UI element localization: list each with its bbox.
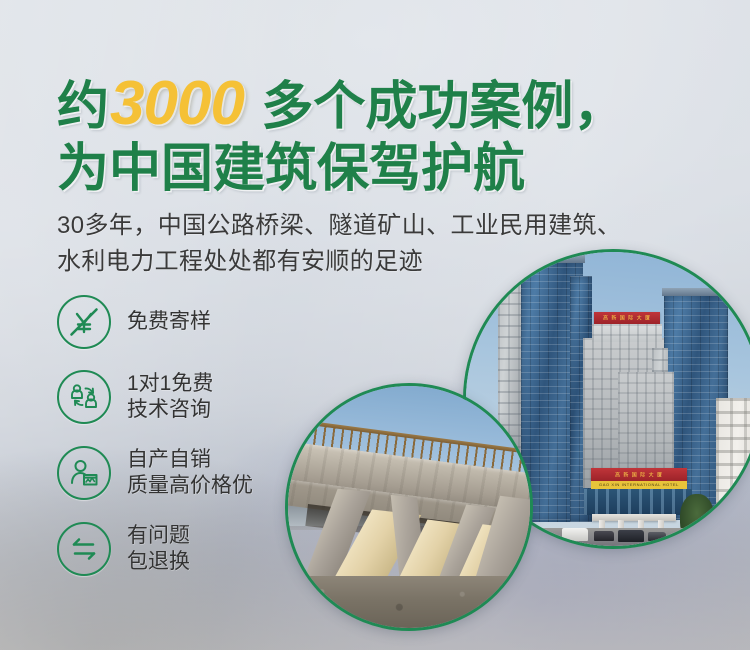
person-chart-icon: [57, 446, 111, 500]
headline-prefix: 约: [57, 78, 109, 136]
tower-roof-cap-left: [519, 254, 585, 263]
feature-label: 免费寄样: [127, 309, 211, 335]
center-parapet: [592, 324, 662, 342]
feature-item-quality-price: 自产自销 质量高价格优: [57, 446, 327, 500]
parked-suv: [618, 530, 644, 542]
headline: 约3000 多个成功案例， 为中国建筑保驾护航: [57, 76, 717, 197]
parked-car: [594, 531, 614, 541]
lobby-glass-band: [584, 489, 692, 515]
headline-number: 3000: [109, 69, 247, 138]
white-office-building: [716, 398, 750, 520]
feature-label-line-2: 包退换: [127, 549, 190, 575]
parked-car: [648, 532, 666, 541]
entrance-sign-band: 高 新 国 际 大 厦: [591, 468, 687, 481]
two-person-exchange-icon: [57, 370, 111, 424]
feature-label: 有问题 包退换: [127, 523, 190, 575]
rooftop-sign-text: 高 新 国 际 大 厦: [594, 315, 660, 322]
feature-list: 免费寄样 1对1免费 技术咨询: [57, 295, 327, 598]
rooftop-sign-band: 高 新 国 际 大 厦: [594, 312, 660, 324]
feature-label-line-1: 自产自销: [127, 448, 211, 471]
feature-item-return-exchange: 有问题 包退换: [57, 522, 327, 576]
no-fee-yen-icon: [57, 295, 111, 349]
tower-roof-cap-right: [662, 288, 730, 296]
headline-line-1: 约3000 多个成功案例，: [57, 76, 717, 135]
feature-item-consultation: 1对1免费 技术咨询: [57, 370, 327, 424]
feature-label: 自产自销 质量高价格优: [127, 447, 253, 499]
entrance-sign-text: 高 新 国 际 大 厦: [591, 471, 687, 478]
headline-suffix: 多个成功案例，: [247, 78, 625, 136]
feature-label-line-1: 有问题: [127, 524, 190, 547]
exchange-arrows-icon: [57, 522, 111, 576]
headline-line-2: 为中国建筑保驾护航: [57, 141, 717, 197]
feature-label-line-2: 质量高价格优: [127, 473, 253, 499]
feature-label-line-2: 技术咨询: [127, 397, 213, 423]
entrance-sign-sub-band: GAO XIN INTERNATIONAL HOTEL: [591, 481, 687, 489]
parked-car: [534, 532, 550, 541]
feature-label: 1对1免费 技术咨询: [127, 371, 213, 423]
feature-item-free-sample: 免费寄样: [57, 295, 327, 349]
feature-label-line-1: 免费寄样: [127, 310, 211, 333]
parked-van: [562, 528, 588, 541]
entrance-sign-sub-text: GAO XIN INTERNATIONAL HOTEL: [591, 481, 687, 489]
subtitle-line-1: 30多年，中国公路桥梁、隧道矿山、工业民用建筑、: [57, 208, 727, 244]
feature-label-line-1: 1对1免费: [127, 372, 213, 395]
promo-banner: 高 新 国 际 大 厦 高 新 国 际 大 厦 GAO XIN INTERNAT…: [0, 0, 750, 650]
